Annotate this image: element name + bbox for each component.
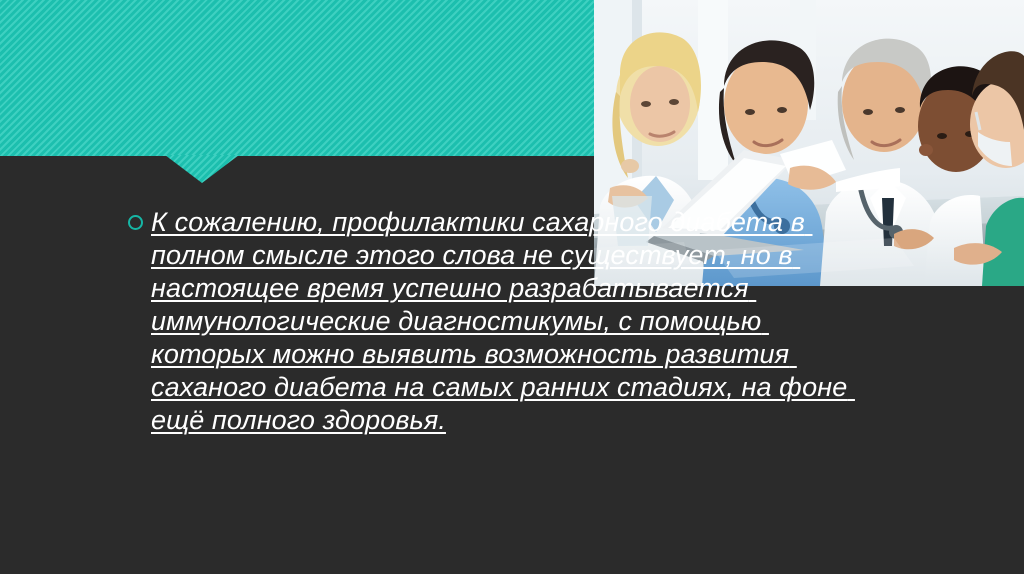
circle-ring-bullet-icon (128, 215, 143, 230)
bullet-list-item: К сожалению, профилактики сахарного диаб… (128, 206, 863, 437)
teal-banner (0, 0, 594, 156)
content-text-block: К сожалению, профилактики сахарного диаб… (128, 206, 863, 437)
teal-banner-notch-icon (165, 155, 239, 183)
body-paragraph: К сожалению, профилактики сахарного диаб… (151, 206, 863, 437)
presentation-slide: К сожалению, профилактики сахарного диаб… (0, 0, 1024, 574)
